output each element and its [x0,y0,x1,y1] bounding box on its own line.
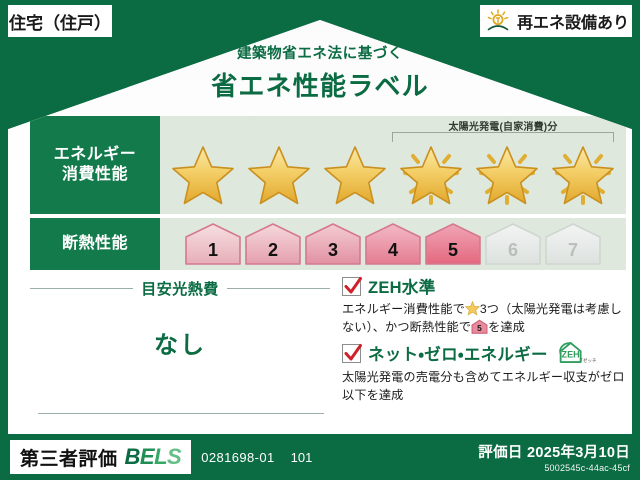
zeh-desc-prefix: エネルギー消費性能で [342,302,465,316]
bels-logo: BELS [125,444,182,470]
sun-renewable-icon [485,9,511,33]
evaluation-id: 5002545c-44ac-45cf [478,463,630,473]
rule-left [30,288,133,289]
zeh-desc-suffix: を達成 [488,320,525,334]
label-content: エネルギー 消費性能 太陽光発電(自家消費)分 断熱性能 1234567 [30,116,626,438]
star-icon [167,139,239,209]
zeh-logo-icon: ZEH 「ゼッチ」 [557,340,597,366]
rule-right [227,288,330,289]
svg-text:5: 5 [477,324,482,333]
flag-net-zero-energy: ネット・ゼロ・エネルギー ZEH 「ゼッチ」 太陽光発電の売電分も含めてエ [342,340,626,404]
page-title: 省エネ性能ラベル [8,66,632,103]
lower-section: 目安光熱費 なし [30,274,626,438]
insulation-level-1: 1 [184,222,242,266]
insulation-level-label: 4 [364,222,422,266]
utility-cost-title: 目安光熱費 [141,278,219,299]
insulation-level-2: 2 [244,222,302,266]
zeh-standard-checkbox[interactable] [342,277,361,296]
flag-zeh-standard-header: ZEH水準 [342,274,626,298]
star-icon [319,139,391,209]
net-zero-checkbox[interactable] [342,344,361,363]
insulation-level-label: 2 [244,222,302,266]
insulation-caption-label: 断熱性能 [62,234,128,254]
flag-zeh-standard: ZEH水準 エネルギー消費性能で3つ（太陽光発電は考慮しない）、かつ断熱性能で5… [342,274,626,336]
zeh-desc-star-count: 3つ（太陽光発電 [480,302,573,316]
bels-badge-ja-label: 第三者評価 [20,444,118,471]
utility-cost-bottom-rule [38,413,324,414]
utility-cost-column: 目安光熱費 なし [30,274,330,438]
zeh-standard-description: エネルギー消費性能で3つ（太陽光発電は考慮しない）、かつ断熱性能で5を達成 [342,301,626,336]
insulation-level-5: 5 [424,222,482,266]
evaluation-info: 評価日 2025年3月10日 5002545c-44ac-45cf [478,441,630,473]
label-body: 建築物省エネ法に基づく 省エネ性能ラベル エネルギー 消費性能 太陽光発電(自家… [8,20,632,440]
energy-label-card: 住宅（住戸） 再エネ設備あり 建築物省エネ法に基づく 省エ [0,0,640,480]
insulation-level-label: 6 [484,222,542,266]
energy-performance-row: エネルギー 消費性能 太陽光発電(自家消費)分 [30,116,626,214]
star-icon-solar [395,139,467,209]
zeh-standard-title: ZEH水準 [368,274,436,298]
evaluation-date: 評価日 2025年3月10日 [478,441,630,462]
star-icon-solar [471,139,543,209]
insulation-level-label: 3 [304,222,362,266]
insulation-performance-panel: 1234567 [160,218,626,270]
energy-caption-line2: 消費性能 [62,165,128,185]
svg-text:ZEH: ZEH [561,350,579,360]
net-zero-description: 太陽光発電の売電分も含めてエネルギー収支がゼロ以下を達成 [342,369,626,404]
solar-annotation-label: 太陽光発電(自家消費)分 [392,118,614,133]
renewable-equipment-label: 再エネ設備あり [517,9,629,33]
insulation-level-3: 3 [304,222,362,266]
energy-performance-panel: 太陽光発電(自家消費)分 [160,116,626,214]
flag-net-zero-header: ネット・ゼロ・エネルギー ZEH 「ゼッチ」 [342,340,626,366]
net-zero-title: ネット・ゼロ・エネルギー [368,341,548,365]
insulation-performance-caption: 断熱性能 [30,218,160,270]
certificate-number: 0281698-01 [201,450,274,465]
utility-cost-value: なし [30,325,330,360]
title-subtitle: 建築物省エネ法に基づく [8,42,632,63]
evaluation-date-label: 評価日 [478,445,522,461]
star-icon [243,139,315,209]
energy-performance-caption: エネルギー 消費性能 [30,116,160,214]
inline-star-icon [465,301,480,316]
dwelling-type-label: 住宅（住戸） [9,9,111,34]
title-block: 建築物省エネ法に基づく 省エネ性能ラベル [8,42,632,103]
svg-text:「ゼッチ」: 「ゼッチ」 [578,357,597,363]
insulation-level-7: 7 [544,222,602,266]
insulation-level-label: 5 [424,222,482,266]
bels-badge: 第三者評価 BELS [10,440,191,474]
energy-caption-line1: エネルギー [54,145,137,165]
renewable-equipment-tag: 再エネ設備あり [480,5,632,37]
insulation-level-label: 1 [184,222,242,266]
footer-bar: 第三者評価 BELS 0281698-01 101 評価日 2025年3月10日… [0,434,640,480]
utility-cost-header: 目安光熱費 [30,278,330,299]
insulation-level-scale: 1234567 [160,218,626,270]
achievement-flags-column: ZEH水準 エネルギー消費性能で3つ（太陽光発電は考慮しない）、かつ断熱性能で5… [342,274,626,438]
energy-star-rating [160,136,626,212]
evaluation-date-value: 2025年3月10日 [527,445,630,461]
star-icon-solar [547,139,619,209]
insulation-performance-row: 断熱性能 1234567 [30,218,626,270]
unit-number: 101 [291,450,313,465]
insulation-level-6: 6 [484,222,542,266]
insulation-level-label: 7 [544,222,602,266]
insulation-level-4: 4 [364,222,422,266]
inline-level-house-icon: 5 [471,319,488,334]
dwelling-type-tag: 住宅（住戸） [8,5,112,37]
